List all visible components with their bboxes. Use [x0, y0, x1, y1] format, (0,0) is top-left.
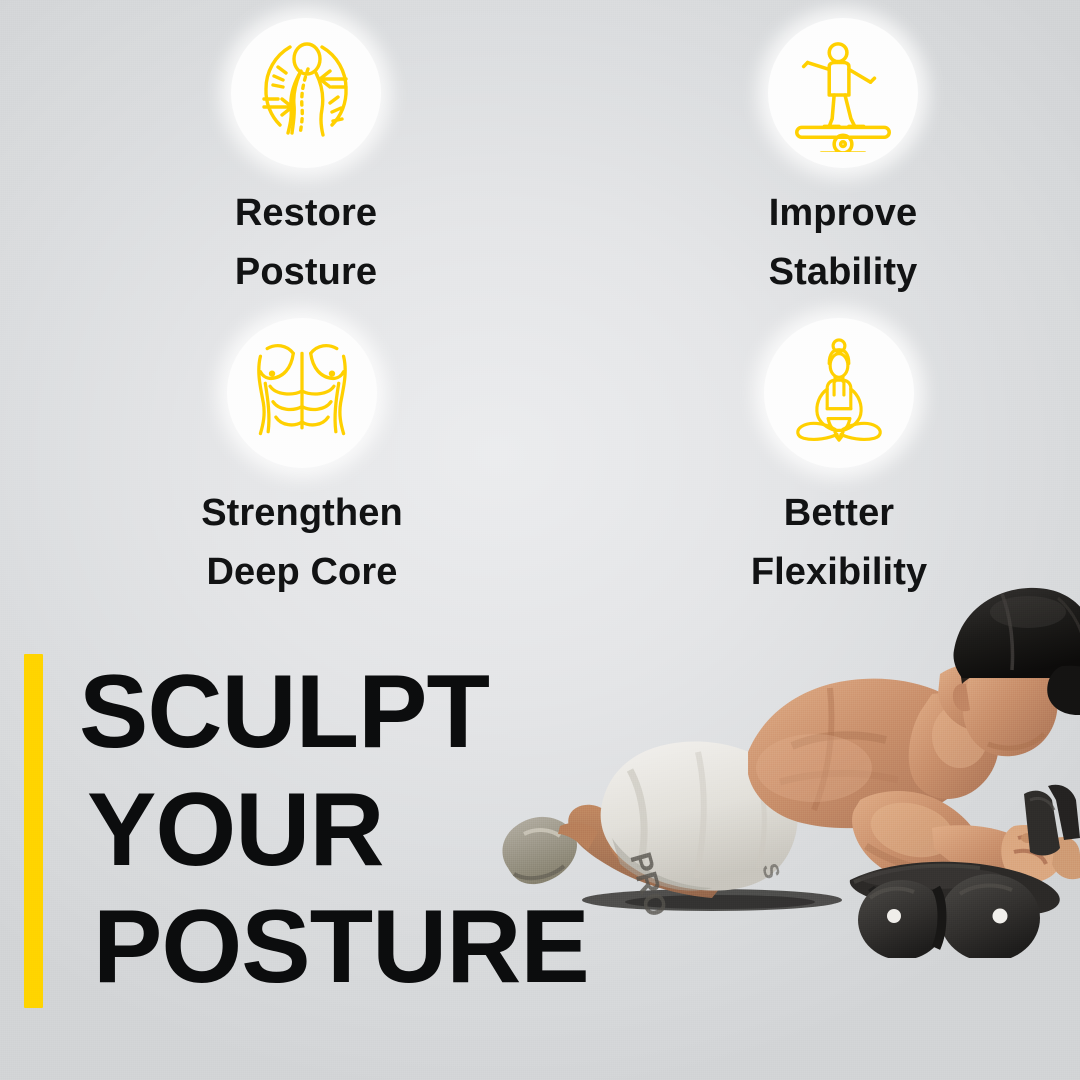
headline-line-3: POSTURE — [79, 889, 589, 1007]
benefit-item-improve-stability: Improve Stability — [540, 18, 1080, 302]
abs-torso-icon — [227, 318, 377, 468]
benefit-item-restore-posture: Restore Posture — [0, 18, 540, 302]
page-title: SCULPT YOUR POSTURE — [79, 654, 589, 1008]
benefit-label: Strengthen Deep Core — [201, 484, 403, 602]
headline-line-2: YOUR — [79, 772, 589, 890]
benefit-label: Improve Stability — [769, 184, 918, 302]
benefits-grid: Restore Posture — [0, 0, 1080, 602]
accent-bar — [24, 654, 43, 1008]
benefits-row: Restore Posture — [0, 18, 1080, 302]
headline-block: SCULPT YOUR POSTURE — [24, 654, 589, 1008]
benefit-label: Restore Posture — [235, 184, 377, 302]
headline-line-1: SCULPT — [79, 654, 589, 772]
yoga-lotus-pose-icon — [764, 318, 914, 468]
balance-board-icon — [768, 18, 918, 168]
benefit-item-strengthen-deep-core: Strengthen Deep Core — [0, 318, 540, 602]
poster-canvas: Restore Posture — [0, 0, 1080, 1080]
spine-posture-icon — [231, 18, 381, 168]
